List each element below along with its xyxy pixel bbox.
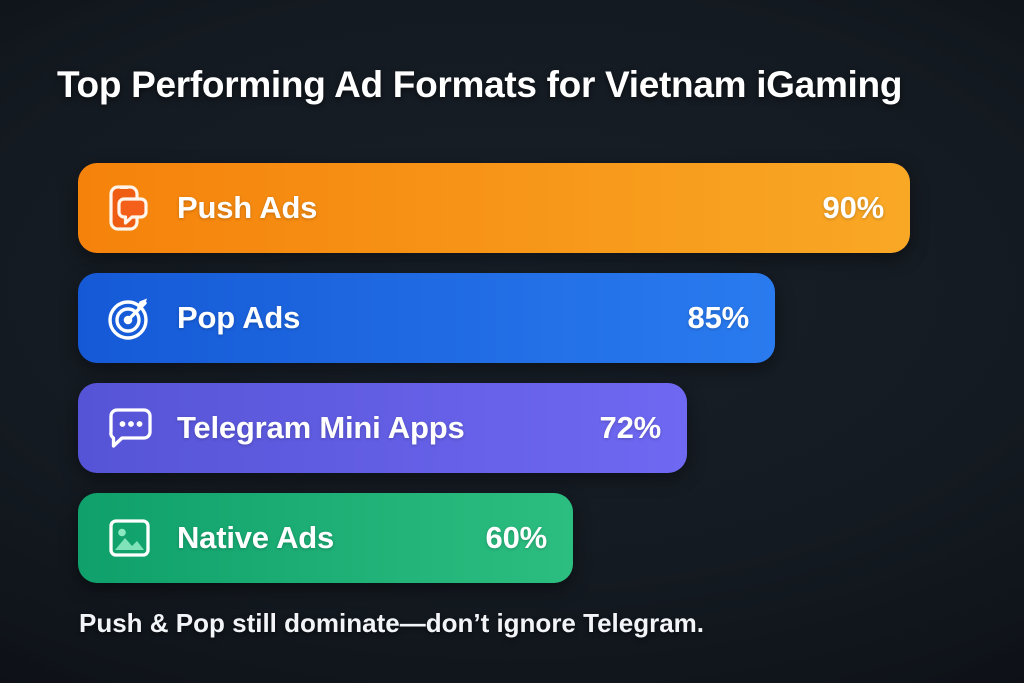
bar-pop-ads[interactable]: Pop Ads 85% (78, 273, 775, 363)
page-title: Top Performing Ad Formats for Vietnam iG… (57, 64, 902, 106)
bar-value: 60% (486, 520, 547, 556)
chart-caption: Push & Pop still dominate—don’t ignore T… (79, 608, 704, 639)
bar-chart: Push Ads 90% Pop Ads 85% (78, 163, 938, 603)
bar-row: Pop Ads 85% (78, 273, 938, 363)
infographic-canvas: Top Performing Ad Formats for Vietnam iG… (0, 0, 1024, 683)
bar-label: Pop Ads (177, 300, 300, 336)
target-dart-icon (105, 293, 155, 343)
chat-bubble-dots-icon (105, 403, 155, 453)
bar-label: Native Ads (177, 520, 334, 556)
bar-push-ads[interactable]: Push Ads 90% (78, 163, 910, 253)
push-notification-phone-icon (105, 183, 155, 233)
bar-label: Telegram Mini Apps (177, 410, 465, 446)
bar-value: 90% (823, 190, 884, 226)
bar-row: Push Ads 90% (78, 163, 938, 253)
bar-value: 85% (688, 300, 749, 336)
bar-telegram-mini-apps[interactable]: Telegram Mini Apps 72% (78, 383, 687, 473)
bar-label: Push Ads (177, 190, 317, 226)
bar-native-ads[interactable]: Native Ads 60% (78, 493, 573, 583)
image-picture-icon (105, 513, 155, 563)
bar-row: Telegram Mini Apps 72% (78, 383, 938, 473)
bar-value: 72% (600, 410, 661, 446)
bar-row: Native Ads 60% (78, 493, 938, 583)
